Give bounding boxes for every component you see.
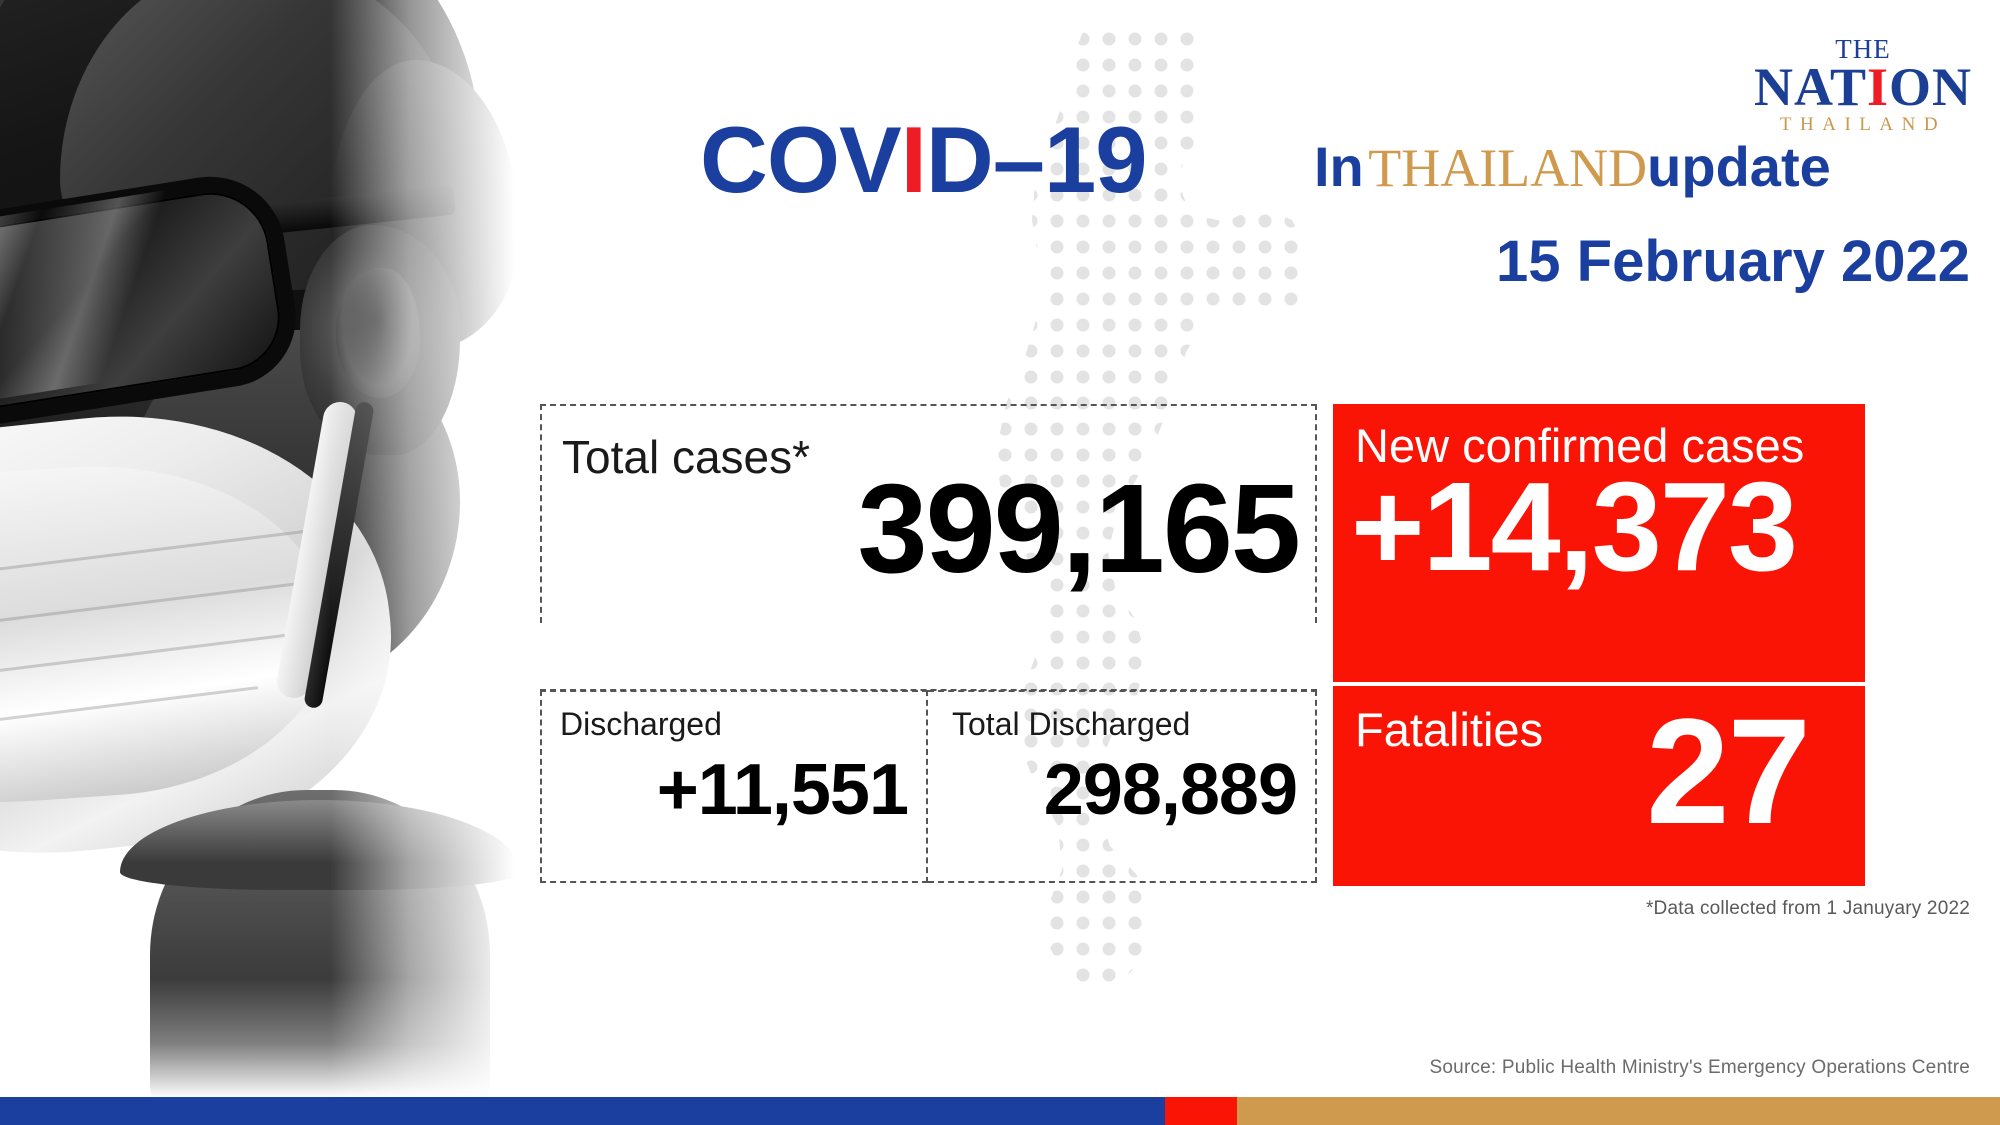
headline-subtitle: In THAILANDupdate [1314,134,1831,199]
title-covid-pre: COV [700,107,901,212]
headline-thailand: THAILAND [1368,138,1647,198]
logo-nation-red-i: I [1867,57,1889,117]
total-cases-value: 399,165 [858,466,1299,592]
total-discharged-label: Total Discharged [952,706,1190,743]
new-confirmed-cases-value: +14,373 [1351,464,1796,590]
total-discharged-panel: Total Discharged 298,889 [928,690,1317,883]
bottom-bar-blue [0,1097,1165,1125]
bottom-bar-red [1165,1097,1237,1125]
discharged-panel: Discharged +11,551 [540,690,928,883]
source-credit: Source: Public Health Ministry's Emergen… [1430,1057,1970,1079]
headline-block: COVID–19 In THAILANDupdate [700,112,1970,212]
new-confirmed-cases-panel: New confirmed cases +14,373 [1333,404,1865,682]
data-collection-footnote: *Data collected from 1 Januyary 2022 [1646,898,1970,920]
report-date: 15 February 2022 [1496,228,1970,295]
title-covid-post: D–19 [926,107,1147,212]
fatalities-value: 27 [1646,696,1809,846]
fatalities-label: Fatalities [1355,702,1543,757]
logo-nation: NATION [1754,60,1972,114]
bottom-color-bar [0,1097,2000,1125]
fatalities-panel: Fatalities 27 [1333,686,1865,886]
logo-nation-pre: NAT [1754,57,1867,117]
total-cases-label: Total cases* [562,430,810,484]
photo-fade-bottom [0,978,540,1098]
total-cases-panel: Total cases* 399,165 [540,404,1317,623]
total-discharged-value: 298,889 [928,754,1297,826]
logo-nation-post: ON [1889,57,1972,117]
photo-fade-right [330,0,540,1098]
bottom-bar-gold [1237,1097,2000,1125]
headline-update: update [1647,135,1831,198]
discharged-value: +11,551 [542,754,908,826]
infographic-canvas: THE NATION THAILAND COVID–19 In THAILAND… [0,0,2000,1125]
page-title: COVID–19 [700,112,1147,208]
discharged-label: Discharged [560,706,722,743]
masked-person-photo [0,0,540,1098]
title-covid-red-i: I [901,107,926,212]
headline-in: In [1314,135,1364,198]
